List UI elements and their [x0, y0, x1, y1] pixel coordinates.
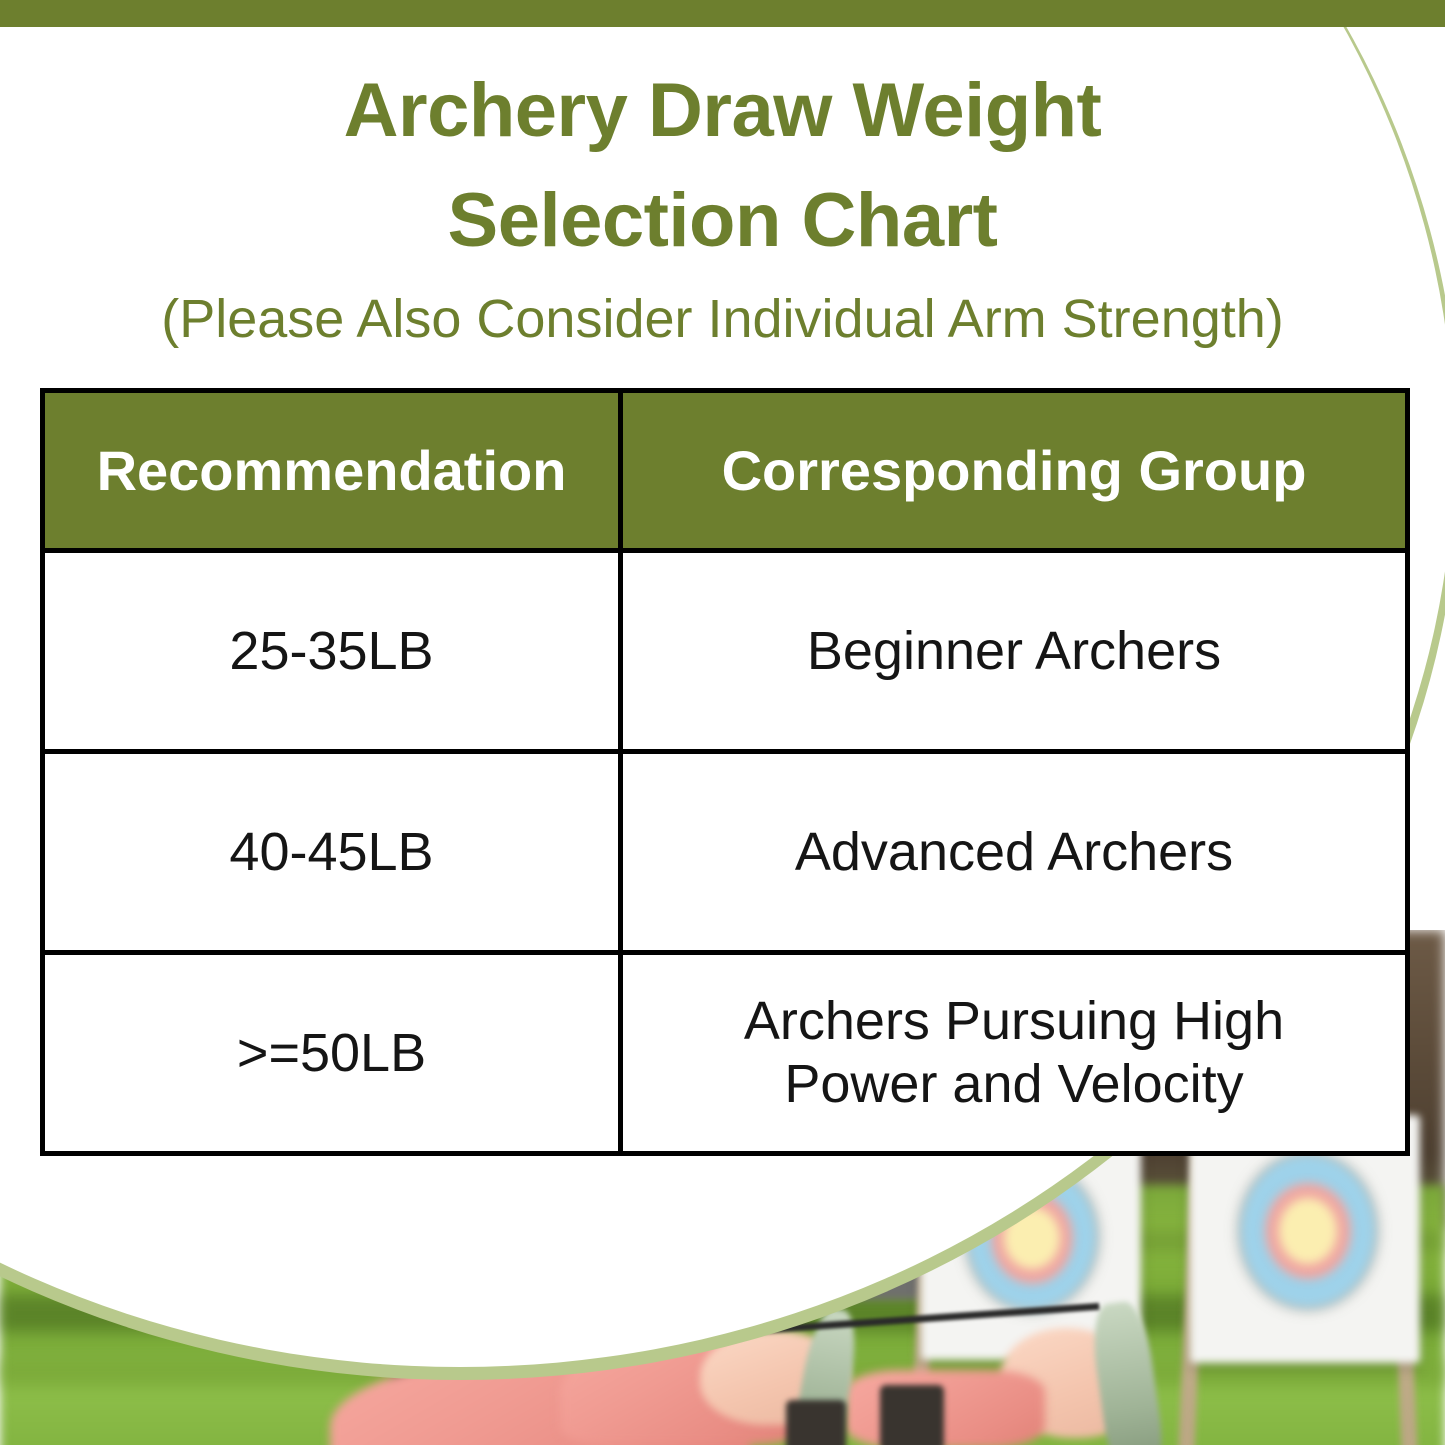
- cell-recommendation-3: >=50LB: [43, 953, 621, 1154]
- cell-group-2-line-1: Advanced Archers: [633, 821, 1395, 884]
- table-row: 25-35LB Beginner Archers: [43, 551, 1408, 752]
- table-row: 40-45LB Advanced Archers: [43, 752, 1408, 953]
- table-row: >=50LB Archers Pursuing High Power and V…: [43, 953, 1408, 1154]
- mini-target-ring-yellow: [884, 1196, 894, 1206]
- draw-weight-table: Recommendation Corresponding Group 25-35…: [40, 388, 1410, 1156]
- heading-block: Archery Draw Weight Selection Chart (Ple…: [0, 56, 1445, 350]
- archer-bow-arm-sleeve: [845, 1370, 1045, 1445]
- cell-group-1-line-1: Beginner Archers: [633, 620, 1395, 683]
- cell-group-1: Beginner Archers: [621, 551, 1408, 752]
- table-header-row: Recommendation Corresponding Group: [43, 391, 1408, 551]
- target-ring-yellow-right: [1279, 1198, 1337, 1264]
- page-subtitle: (Please Also Consider Individual Arm Str…: [0, 288, 1445, 350]
- cell-group-3: Archers Pursuing High Power and Velocity: [621, 953, 1408, 1154]
- column-header-recommendation: Recommendation: [43, 391, 621, 551]
- bow-grip: [880, 1385, 944, 1445]
- bow-release-aid: [786, 1400, 846, 1445]
- page-title-line-1: Archery Draw Weight: [344, 68, 1102, 153]
- top-accent-bar: [0, 0, 1445, 27]
- page-title: Archery Draw Weight Selection Chart: [0, 56, 1445, 276]
- cell-group-3-line-1: Archers Pursuing High: [633, 990, 1395, 1053]
- column-header-corresponding-group: Corresponding Group: [621, 391, 1408, 551]
- cell-group-3-line-2: Power and Velocity: [633, 1053, 1395, 1116]
- page-title-line-2: Selection Chart: [448, 178, 998, 263]
- infographic-canvas: Archery Draw Weight Selection Chart (Ple…: [0, 0, 1445, 1445]
- cell-group-2: Advanced Archers: [621, 752, 1408, 953]
- draw-weight-table-wrap: Recommendation Corresponding Group 25-35…: [40, 388, 1410, 1136]
- cell-recommendation-2: 40-45LB: [43, 752, 621, 953]
- target-ring-yellow-left: [1004, 1207, 1060, 1269]
- cell-recommendation-1: 25-35LB: [43, 551, 621, 752]
